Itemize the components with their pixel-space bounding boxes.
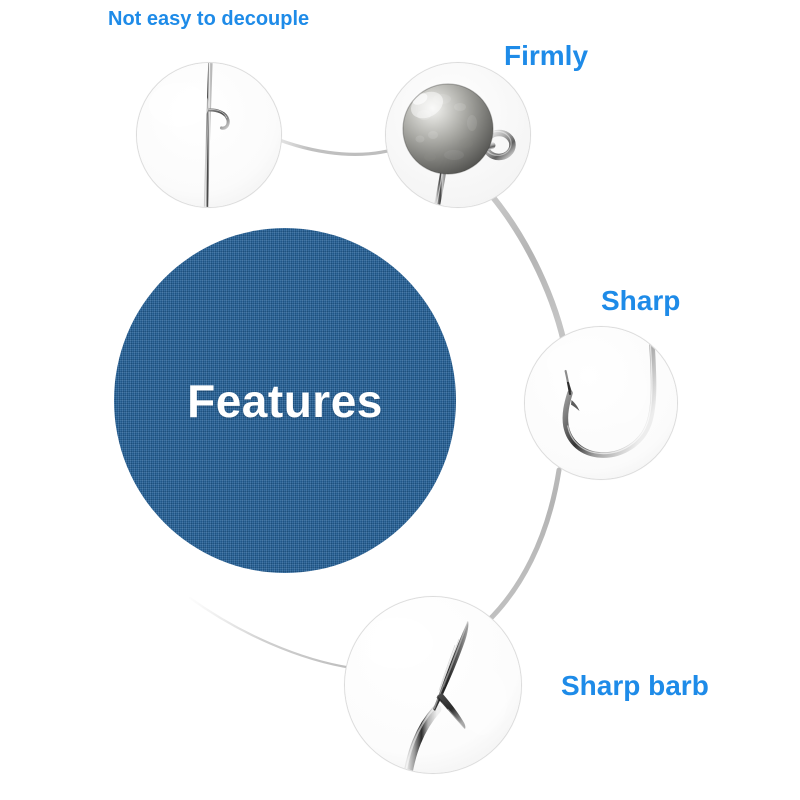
connector-arc-right-lower: [487, 470, 559, 622]
features-hub-circle: Features: [114, 228, 456, 573]
page-title: Features: [187, 374, 383, 428]
connector-arc-right-upper: [492, 196, 566, 352]
label-not-easy-to-decouple: Not easy to decouple: [108, 8, 309, 31]
callout-circle-barb[interactable]: [344, 596, 522, 774]
j-hook-photo: [525, 327, 677, 479]
callout-circle-sharp[interactable]: [524, 326, 678, 480]
connector-arc-bottom-left: [190, 598, 352, 668]
lead-sinker-jig-head-photo: [386, 63, 530, 207]
label-sharp-barb: Sharp barb: [561, 670, 709, 702]
hook-shank-barb-photo: [137, 63, 281, 207]
label-firmly: Firmly: [504, 40, 588, 72]
callout-circle-firmly[interactable]: [385, 62, 531, 208]
hook-point-barb-macro-photo: [345, 597, 521, 773]
infographic-canvas: Features: [0, 0, 800, 800]
label-sharp: Sharp: [601, 285, 680, 317]
callout-circle-decouple[interactable]: [136, 62, 282, 208]
